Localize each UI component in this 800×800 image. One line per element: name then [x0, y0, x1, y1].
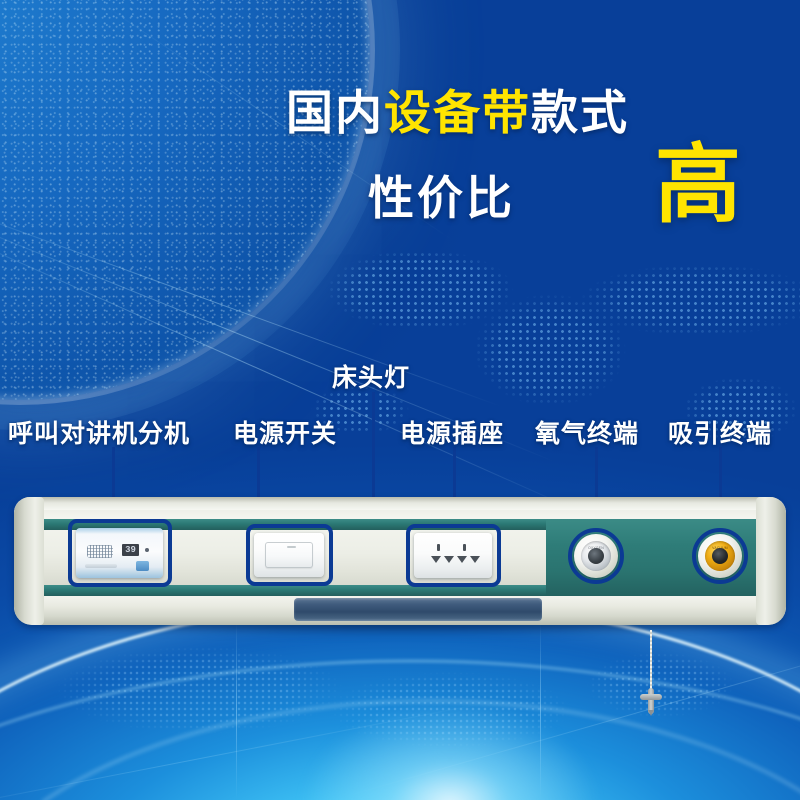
- pull-cord-handle[interactable]: [640, 688, 662, 714]
- headline-part-2: 设备带: [384, 86, 531, 139]
- light-streak: [0, 205, 587, 515]
- panel-end-cap-right: [756, 497, 786, 625]
- banner-canvas: 国内设备带款式 性价比 高 呼叫对讲机分机 电源开关 床头灯 电源插座 氧气终端…: [0, 0, 800, 800]
- callout-label-oxygen-outlet: 氧气终端: [535, 414, 639, 450]
- callout-label-intercom: 呼叫对讲机分机: [8, 414, 190, 450]
- headline: 国内设备带款式: [286, 88, 786, 137]
- callout-label-bed-lamp: 床头灯: [332, 358, 410, 394]
- emphasis-word: 高: [655, 142, 741, 228]
- highlight-box-oxygen-outlet: [568, 528, 624, 584]
- headline-part-3: 款式: [531, 86, 629, 139]
- panel-end-cap-left: [14, 497, 44, 625]
- callout-label-suction-outlet: 吸引终端: [668, 414, 772, 450]
- panel-top-edge: [14, 497, 786, 510]
- highlight-box-intercom: [68, 519, 172, 587]
- callout-label-power-switch: 电源开关: [233, 414, 337, 450]
- highlight-box-suction-outlet: [692, 528, 748, 584]
- bed-lamp-diffuser: [294, 598, 542, 621]
- horizon-core-glow: [300, 700, 600, 800]
- subheadline: 性价比: [368, 162, 515, 228]
- highlight-box-power-socket: [406, 524, 501, 587]
- vertical-light-line: [236, 620, 237, 800]
- highlight-box-power-switch: [246, 524, 333, 586]
- pull-cord[interactable]: [650, 630, 652, 696]
- cord-handle-arm: [640, 694, 662, 700]
- callout-label-power-socket: 电源插座: [400, 414, 504, 450]
- headline-part-1: 国内: [286, 86, 384, 139]
